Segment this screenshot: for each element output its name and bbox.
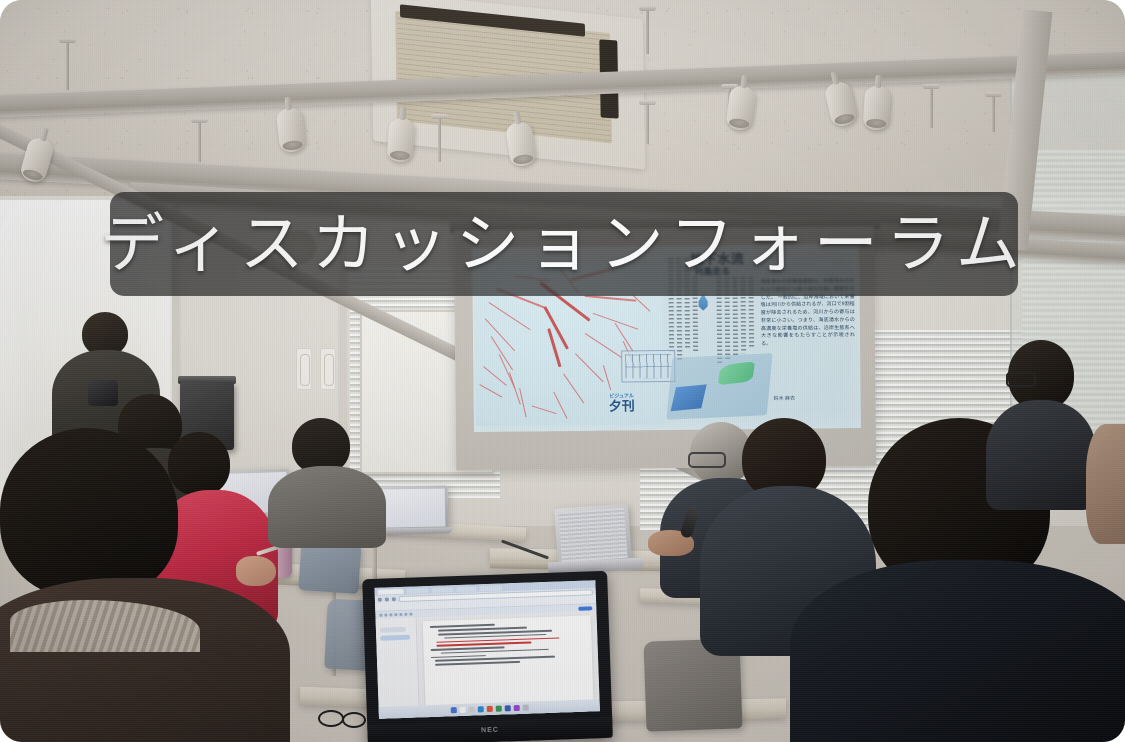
track-light-5 bbox=[725, 85, 756, 132]
camera bbox=[88, 380, 118, 406]
browser-tab-1[interactable] bbox=[378, 588, 404, 594]
front-left-head bbox=[0, 428, 178, 598]
right-edge-hair bbox=[1086, 424, 1125, 544]
eyeglasses-lens-right bbox=[342, 712, 366, 728]
red-jacket-hand bbox=[236, 556, 276, 586]
browser-tab-5[interactable] bbox=[479, 585, 501, 591]
speaker-eyeglasses bbox=[688, 452, 726, 468]
document-outline-sidebar[interactable] bbox=[376, 617, 420, 718]
browser-tab-3[interactable] bbox=[431, 587, 453, 593]
browser-tab-2[interactable] bbox=[407, 588, 429, 594]
title-text: ディスカッションフォーラム bbox=[100, 212, 1028, 276]
glasses-wall-eyeglasses bbox=[1006, 372, 1036, 387]
taskbar-icon-word[interactable] bbox=[504, 705, 510, 711]
laptop-silver-lid bbox=[554, 503, 632, 566]
slide-newspaper-logo: ビジュアル 夕刊 bbox=[602, 394, 642, 420]
pendant-rod-2 bbox=[198, 122, 201, 162]
title-overlay-band: ディスカッションフォーラム bbox=[110, 192, 1018, 296]
outline-item-selected[interactable] bbox=[380, 635, 410, 641]
discussion-forum-photo: ビジュアル 夕刊 地下水流 列島走る 海底湧水の栄養塩濃度は、表層海水のそれより… bbox=[0, 0, 1125, 742]
toolbar-icon-1[interactable] bbox=[379, 614, 382, 617]
reload-icon[interactable] bbox=[392, 597, 396, 601]
taskbar-icon-search[interactable] bbox=[459, 707, 465, 713]
doc-text-line-red bbox=[437, 642, 532, 647]
glasses-wall-body bbox=[986, 400, 1096, 510]
slide-logo-main: 夕刊 bbox=[609, 398, 635, 413]
doc-text-line bbox=[431, 655, 486, 659]
doc-text-line bbox=[435, 661, 520, 666]
taskbar-icon-teams[interactable] bbox=[513, 705, 519, 711]
toolbar-icon-7[interactable] bbox=[409, 613, 412, 616]
pendant-rod-4 bbox=[646, 10, 649, 54]
pendant-rod-3 bbox=[438, 118, 441, 162]
taskbar-icon-mail[interactable] bbox=[486, 706, 492, 712]
toolbar-icon-5[interactable] bbox=[399, 613, 402, 616]
pendant-rod-7 bbox=[930, 88, 933, 128]
laptop-screen[interactable] bbox=[374, 580, 599, 719]
laptop-center-lid bbox=[378, 485, 449, 530]
red-jacket-head bbox=[168, 432, 230, 496]
slide-credit: 鈴木 麻衣 bbox=[774, 395, 795, 402]
taskbar-icon-excel[interactable] bbox=[495, 706, 501, 712]
light-switch-1[interactable] bbox=[296, 348, 312, 390]
back-icon[interactable] bbox=[378, 597, 382, 601]
track-light-2 bbox=[276, 107, 306, 153]
front-right-shoulders bbox=[790, 560, 1125, 742]
forward-icon[interactable] bbox=[385, 597, 389, 601]
laptop-brand-logo: NEC bbox=[481, 727, 499, 735]
pendant-rod-5 bbox=[646, 104, 649, 144]
share-button[interactable] bbox=[578, 606, 592, 610]
pendant-rod-1 bbox=[66, 42, 69, 90]
taskbar-icon-explorer[interactable] bbox=[468, 706, 474, 712]
pendant-rod-8 bbox=[992, 96, 995, 132]
taskbar-icon-settings[interactable] bbox=[522, 705, 528, 711]
water-drop-icon bbox=[697, 294, 710, 311]
track-light-7 bbox=[863, 85, 891, 130]
grey-sweater-body bbox=[268, 466, 386, 548]
track-light-3 bbox=[386, 117, 415, 163]
slide-diagram-blue-layer bbox=[671, 384, 707, 411]
outline-item-1[interactable] bbox=[380, 627, 406, 633]
toolbar-icon-4[interactable] bbox=[394, 613, 397, 616]
slide-table-diagram bbox=[621, 350, 675, 383]
toolbar-icon-2[interactable] bbox=[384, 613, 387, 616]
eyeglasses-lens-left bbox=[318, 710, 344, 727]
taskbar-icon-windows[interactable] bbox=[450, 707, 456, 713]
browser-tab-4[interactable] bbox=[456, 586, 476, 592]
foreground-laptop[interactable]: NEC bbox=[362, 571, 613, 742]
light-switch-2[interactable] bbox=[320, 348, 336, 390]
toolbar-icon-3[interactable] bbox=[389, 613, 392, 616]
toolbar-icon-6[interactable] bbox=[404, 613, 407, 616]
taskbar-icon-edge[interactable] bbox=[477, 706, 483, 712]
